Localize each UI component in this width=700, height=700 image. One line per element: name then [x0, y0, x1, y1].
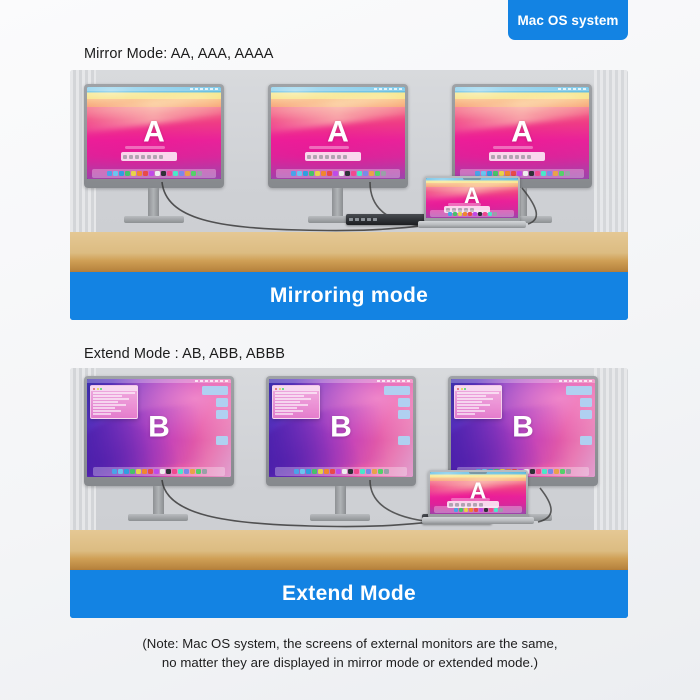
monitor-neck — [148, 188, 159, 218]
dock — [276, 169, 399, 178]
laptop-notch — [463, 178, 481, 180]
screen-letter: A — [87, 117, 221, 147]
screen-letter: A — [455, 117, 589, 147]
monitor-screen: B — [269, 379, 413, 477]
os-badge: Mac OS system — [508, 0, 628, 40]
extend-mode-banner: Extend Mode — [70, 570, 628, 618]
external-monitor-1: A — [84, 84, 224, 188]
extend-mode-caption: Extend Mode : AB, ABB, ABBB — [84, 346, 285, 362]
monitor-screen: A — [455, 87, 589, 179]
menu-bar — [271, 87, 405, 91]
external-monitor-2: A — [268, 84, 408, 188]
monitor-bezel: B — [84, 376, 234, 486]
laptop-base — [418, 221, 526, 228]
mirror-mode-photo-panel: A — [70, 70, 628, 320]
url-bar — [309, 146, 349, 149]
spotlight-bar — [121, 152, 177, 161]
finder-window — [90, 385, 138, 419]
macbook-laptop-mirror: A — [418, 176, 526, 228]
mirror-mode-banner: Mirroring mode — [70, 272, 628, 320]
menu-bar — [87, 379, 231, 383]
window-content — [91, 391, 137, 416]
laptop-lid: A — [428, 470, 528, 517]
desktop-widgets — [566, 386, 592, 445]
menu-bar — [269, 379, 413, 383]
desktop-widgets — [384, 386, 410, 445]
window-content — [455, 391, 501, 416]
menu-bar — [451, 379, 595, 383]
monitor-neck — [335, 486, 346, 516]
external-monitor-2: B — [266, 376, 416, 486]
external-monitor-3: A — [452, 84, 592, 188]
monitor-screen: B — [451, 379, 595, 477]
menu-bar — [455, 87, 589, 91]
os-badge-label: Mac OS system — [517, 13, 618, 28]
macbook-laptop-extend: A — [422, 470, 534, 524]
extend-mode-photo-panel: B — [70, 368, 628, 618]
desktop-widgets — [202, 386, 228, 445]
laptop-lid: A — [424, 176, 520, 221]
desk-surface — [70, 530, 628, 570]
monitor-bezel: A — [268, 84, 408, 188]
monitor-screen: A — [271, 87, 405, 179]
desk-surface — [70, 232, 628, 272]
window-content — [273, 391, 319, 416]
dock — [434, 506, 522, 513]
monitor-neck — [332, 188, 343, 218]
laptop-screen: A — [426, 178, 518, 218]
url-bar — [493, 146, 533, 149]
mirror-mode-caption: Mirror Mode: AA, AAA, AAAA — [84, 46, 274, 62]
extend-mode-banner-label: Extend Mode — [282, 582, 416, 606]
spotlight-bar — [489, 152, 545, 161]
monitor-foot — [128, 514, 188, 521]
monitor-bezel: B — [266, 376, 416, 486]
external-monitor-1: B — [84, 376, 234, 486]
spotlight-bar — [305, 152, 361, 161]
monitor-foot — [124, 216, 184, 223]
laptop-base — [422, 517, 534, 524]
menu-bar — [87, 87, 221, 91]
monitor-screen: B — [87, 379, 231, 477]
laptop-screen: A — [430, 472, 526, 514]
monitor-foot — [310, 514, 370, 521]
dock — [93, 467, 226, 476]
footer-note-line-2: no matter they are displayed in mirror m… — [0, 653, 700, 672]
dock — [92, 169, 215, 178]
dock — [430, 210, 515, 217]
finder-window — [454, 385, 502, 419]
url-bar — [125, 146, 165, 149]
footer-note-line-1: (Note: Mac OS system, the screens of ext… — [0, 634, 700, 653]
monitor-bezel: A — [84, 84, 224, 188]
monitor-neck — [153, 486, 164, 516]
footer-note: (Note: Mac OS system, the screens of ext… — [0, 634, 700, 672]
monitor-bezel: A — [452, 84, 592, 188]
laptop-notch — [469, 472, 487, 474]
product-infographic: Mac OS system Mirror Mode: AA, AAA, AAAA… — [0, 0, 700, 700]
monitor-screen: A — [87, 87, 221, 179]
screen-letter: A — [271, 117, 405, 147]
finder-window — [272, 385, 320, 419]
dock — [275, 467, 408, 476]
mirror-mode-banner-label: Mirroring mode — [270, 284, 428, 308]
